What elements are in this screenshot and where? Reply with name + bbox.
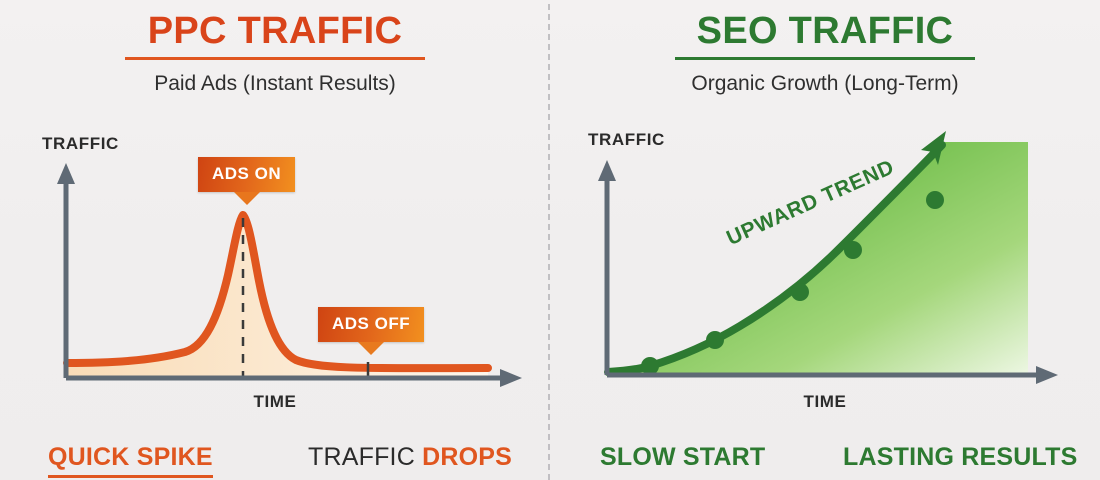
ppc-caption-traffic-drops: TRAFFIC DROPS <box>308 443 512 472</box>
seo-data-point <box>926 191 944 209</box>
seo-data-point <box>706 331 724 349</box>
ads-off-badge: ADS OFF <box>318 307 424 342</box>
ppc-x-axis-label: TIME <box>0 392 550 412</box>
ppc-curve <box>67 215 488 368</box>
seo-caption-lasting-results: LASTING RESULTS <box>843 443 1077 472</box>
seo-y-axis-label: TRAFFIC <box>588 130 665 150</box>
ppc-y-axis-arrow-icon <box>57 163 75 184</box>
ppc-area-fill <box>67 215 488 378</box>
ppc-panel: PPC TRAFFIC Paid Ads (Instant Results) <box>0 0 550 480</box>
ppc-caption-traffic-word: TRAFFIC <box>308 443 422 471</box>
seo-data-point <box>791 283 809 301</box>
seo-x-axis-arrow-icon <box>1036 366 1058 384</box>
seo-data-point <box>844 241 862 259</box>
seo-area-fill <box>608 142 1028 375</box>
panel-divider <box>548 4 550 480</box>
seo-panel: SEO TRAFFIC Organic Growth (Long-Term) <box>550 0 1100 480</box>
ads-on-badge: ADS ON <box>198 157 295 192</box>
seo-caption-slow-start: SLOW START <box>600 443 765 472</box>
ppc-y-axis-label: TRAFFIC <box>42 134 119 154</box>
seo-data-point <box>641 357 659 375</box>
ppc-x-axis-arrow-icon <box>500 369 522 387</box>
ppc-caption-drops-word: DROPS <box>422 443 512 471</box>
seo-x-axis-label: TIME <box>550 392 1100 412</box>
seo-y-axis-arrow-icon <box>598 160 616 181</box>
ppc-caption-quick-spike: QUICK SPIKE <box>48 443 213 478</box>
